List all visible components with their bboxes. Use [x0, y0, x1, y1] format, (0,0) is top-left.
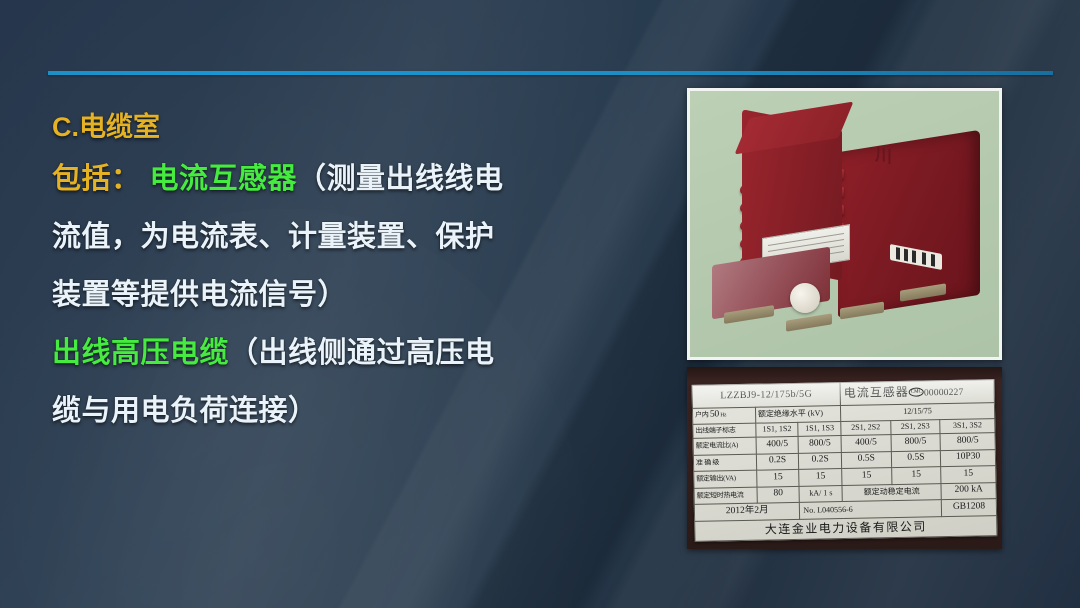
nameplate-insulation-label: 额定绝缘水平 (kV) — [755, 405, 841, 423]
nameplate-cell: 2S1, 2S3 — [890, 420, 940, 435]
nameplate-thermal-unit: kA/ 1 s — [799, 485, 842, 502]
text-line-5: 出线高压电缆（出线侧通过高压电 — [52, 324, 652, 382]
nameplate-cell: 15 — [941, 466, 996, 484]
text-line-2: 包括：电流互感器（测量出线线电 — [52, 150, 652, 208]
ct-foot-2 — [786, 313, 832, 331]
nameplate-row-label: 准 确 级 — [693, 454, 756, 472]
nameplate-cell: 15 — [799, 469, 842, 486]
nameplate-serial: 00000227 — [924, 387, 964, 398]
nameplate-cell: 15 — [891, 467, 941, 484]
nameplate-photo: LZZBJ9-12/175b/5G 电流互感器CMC00000227 户内 50… — [687, 367, 1002, 549]
nameplate-insulation-value: 12/15/75 — [840, 402, 994, 421]
cmc-mark-icon: CMC — [909, 388, 924, 397]
nameplate-cell: 0.5S — [841, 451, 891, 468]
nameplate-cell: 3S1, 3S2 — [940, 419, 995, 434]
text-line-5-tail: （出线侧通过高压电 — [229, 337, 495, 369]
nameplate-cell: 800/5 — [798, 436, 841, 453]
photo-backdrop: 川 — [690, 91, 999, 357]
nameplate-product-name: 电流互感器 — [844, 385, 909, 400]
nameplate-row-label: 额定输出(VA) — [694, 470, 757, 488]
section-heading: C.电缆室 — [52, 104, 652, 150]
nameplate-cell: 2S1, 2S2 — [841, 421, 891, 436]
nameplate-table: LZZBJ9-12/175b/5G 电流互感器CMC00000227 户内 50… — [692, 379, 998, 542]
text-line-2-tail: （测量出线线电 — [297, 163, 504, 195]
text-line-3-text: 流值，为电流表、计量装置、保护 — [52, 221, 495, 253]
text-line-3: 流值，为电流表、计量装置、保护 — [52, 208, 652, 266]
nameplate-cell: 1S1, 1S2 — [756, 422, 799, 437]
section-heading-text: C.电缆室 — [52, 112, 160, 142]
nameplate-cell: 0.2S — [799, 452, 842, 469]
nameplate-cell: 800/5 — [891, 434, 941, 451]
nameplate-cell: 1S1, 1S3 — [798, 422, 841, 437]
slide-canvas: C.电缆室 包括：电流互感器（测量出线线电 流值，为电流表、计量装置、保护 装置… — [0, 0, 1080, 608]
term-current-transformer: 电流互感器 — [150, 163, 298, 195]
text-line-4-text: 装置等提供电流信号） — [52, 279, 347, 311]
nameplate-cell: 800/5 — [940, 433, 995, 451]
nameplate-row-company: 大连金业电力设备有限公司 — [695, 515, 997, 541]
product-photo: 川 — [687, 88, 1002, 360]
nameplate-row-label: 额定电流比(A) — [693, 437, 756, 455]
nameplate-row-label: 出线端子标志 — [693, 423, 756, 438]
ct-bushing — [790, 283, 820, 313]
text-line-6-text: 缆与用电负荷连接） — [52, 395, 318, 427]
nameplate-indoor-cell: 户内 50 Hz — [692, 407, 755, 425]
text-line-4: 装置等提供电流信号） — [52, 266, 652, 324]
nameplate-no-value: L040556-6 — [817, 504, 853, 514]
nameplate-cell: 15 — [756, 469, 799, 486]
label-includes: 包括： — [52, 163, 141, 195]
nameplate-date: 2012年2月 — [694, 502, 800, 521]
nameplate-cell: 0.5S — [891, 450, 941, 467]
nameplate-thermal-label: 额定短时热电流 — [694, 487, 757, 505]
nameplate-standard: GB1208 — [941, 499, 996, 517]
unit-frequency: Hz — [720, 413, 726, 419]
nameplate-thermal-value: 80 — [757, 486, 800, 503]
nameplate-cell: 400/5 — [841, 435, 891, 452]
nameplate-cell: 0.2S — [756, 453, 799, 470]
nameplate-product-cell: 电流互感器CMC00000227 — [840, 380, 994, 405]
term-outgoing-hv-cable: 出线高压电缆 — [52, 337, 229, 369]
nameplate-cell: 10P30 — [941, 449, 996, 467]
nameplate-company: 大连金业电力设备有限公司 — [765, 519, 927, 536]
nameplate-model: LZZBJ9-12/175b/5G — [692, 383, 840, 408]
nameplate-dynamic-label: 额定动稳定电流 — [842, 483, 941, 501]
nameplate-label: LZZBJ9-12/175b/5G 电流互感器CMC00000227 户内 50… — [692, 379, 998, 542]
label-indoor: 户内 — [695, 411, 709, 419]
nameplate-cell: 15 — [842, 468, 892, 485]
nameplate-no-label: No. — [803, 505, 815, 514]
nameplate-company-cell: 大连金业电力设备有限公司 — [695, 515, 997, 541]
header-divider-rule — [48, 71, 1053, 75]
nameplate-dynamic-value: 200 kA — [941, 482, 996, 500]
value-frequency: 50 — [710, 410, 719, 420]
body-text-column: C.电缆室 包括：电流互感器（测量出线线电 流值，为电流表、计量装置、保护 装置… — [52, 104, 652, 440]
text-line-6: 缆与用电负荷连接） — [52, 382, 652, 440]
nameplate-cell: 400/5 — [756, 436, 799, 453]
